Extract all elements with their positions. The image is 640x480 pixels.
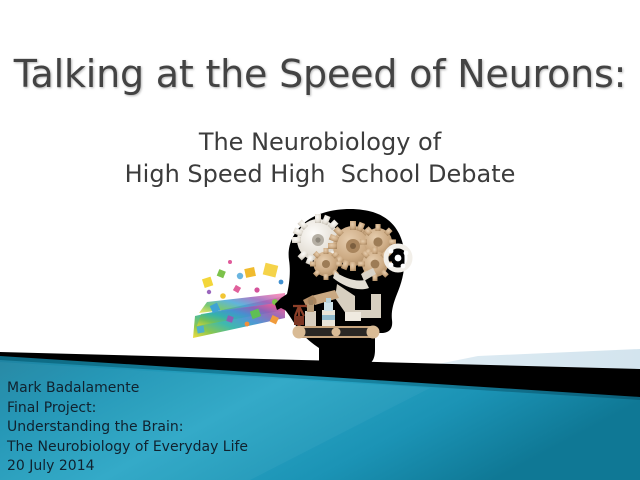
page-subtitle: The Neurobiology of High Speed High Scho… [0, 126, 640, 190]
rainbow-speech-spray [193, 260, 285, 338]
head-silhouette-illustration [185, 198, 435, 368]
page-title: Talking at the Speed of Neurons: [0, 52, 640, 96]
presentation-slide: Talking at the Speed of Neurons: The Neu… [0, 0, 640, 480]
footer-credits: Mark Badalamente Final Project: Understa… [7, 379, 248, 477]
